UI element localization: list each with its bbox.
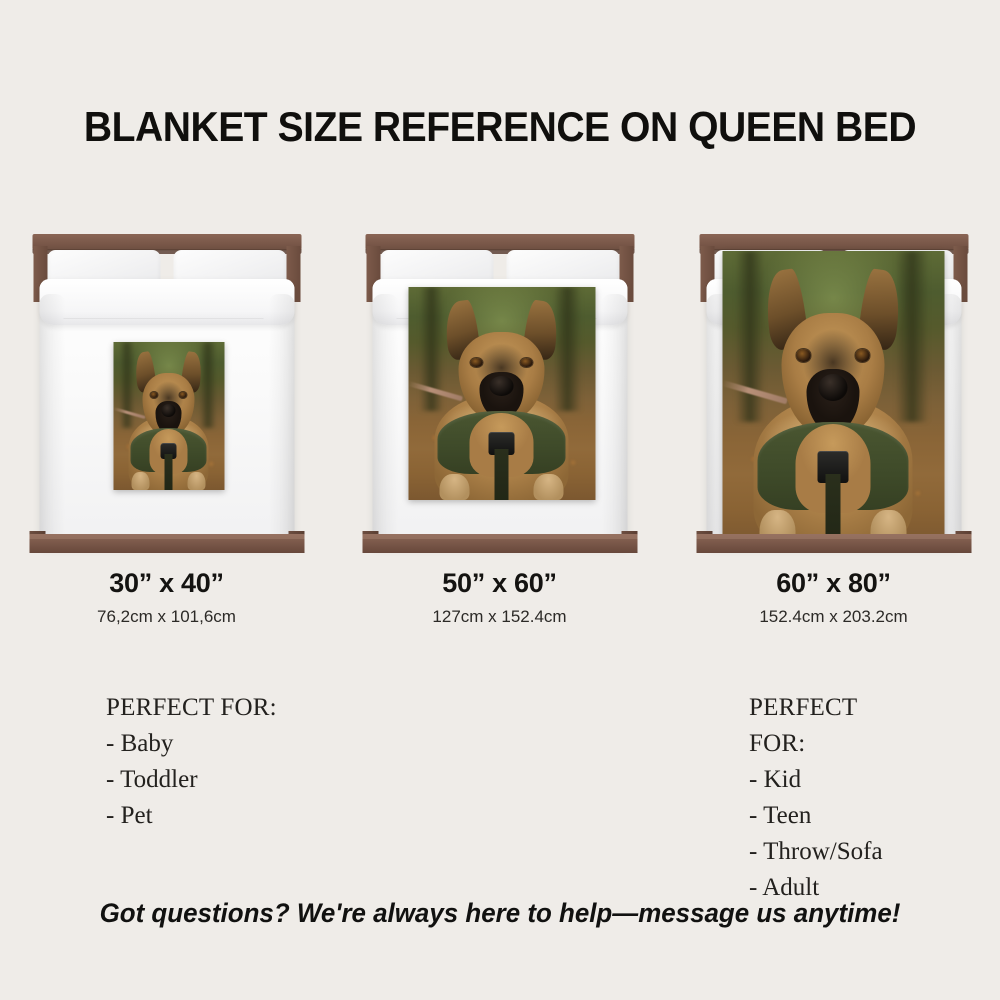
headboard-rail (699, 234, 968, 250)
size-inches-30x40: 30” x 40” (0, 568, 333, 599)
dog-paw-right (533, 474, 563, 500)
blanket-photo (408, 287, 595, 500)
dog-paw-left (440, 474, 470, 500)
perfect-for-item: - Baby (106, 726, 277, 762)
size-columns: 30” x 40” 76,2cm x 101,6cm PERFECT FOR: … (0, 0, 1000, 1000)
bed-illustration-30x40 (29, 234, 304, 556)
headboard-rail (32, 234, 301, 250)
perfect-for-item: - Toddler (106, 762, 277, 798)
dog-eye-right (855, 349, 869, 361)
headboard-rail (365, 234, 634, 250)
german-shepherd-dog (722, 251, 944, 545)
duvet-drape-left (372, 294, 398, 542)
dog-nose (489, 376, 513, 395)
harness-strap (495, 449, 508, 500)
dog-nose (819, 374, 848, 400)
footboard-rail (696, 534, 971, 553)
duvet-crease (63, 318, 263, 319)
dog-eye-left (796, 349, 810, 361)
harness-strap (165, 454, 173, 490)
blanket-photo (722, 251, 944, 545)
dog-paw-right (187, 472, 205, 490)
german-shepherd-dog (408, 287, 595, 500)
footboard-rail (362, 534, 637, 553)
size-centimeters-30x40: 76,2cm x 101,6cm (0, 607, 333, 627)
dog-eye-right (180, 392, 187, 398)
size-column-30x40: 30” x 40” 76,2cm x 101,6cm PERFECT FOR: … (0, 0, 333, 1000)
blanket-print-50x60 (408, 287, 595, 500)
duvet-drape-right (601, 294, 627, 542)
size-inches-50x60: 50” x 60” (333, 568, 666, 599)
duvet-drape-right (268, 294, 294, 542)
size-column-50x60: 50” x 60” 127cm x 152.4cm PERFECT FOR: -… (333, 0, 666, 1000)
blanket-print-60x80 (722, 251, 944, 545)
size-centimeters-50x60: 127cm x 152.4cm (333, 607, 666, 627)
size-inches-60x80: 60” x 80” (667, 568, 1000, 599)
german-shepherd-dog (113, 342, 224, 490)
perfect-for-block-30x40: PERFECT FOR: - Baby - Toddler - Pet (106, 690, 277, 834)
blanket-photo (113, 342, 224, 490)
perfect-for-heading: PERFECT FOR: (106, 690, 277, 726)
bed-illustration-50x60 (362, 234, 637, 556)
footer-tagline: Got questions? We're always here to help… (20, 898, 980, 929)
size-column-60x80: 60” x 80” 152.4cm x 203.2cm PERFECT FOR:… (667, 0, 1000, 1000)
size-centimeters-60x80: 152.4cm x 203.2cm (667, 607, 1000, 627)
perfect-for-item: - Pet (106, 798, 277, 834)
blanket-print-30x40 (113, 342, 224, 490)
dog-paw-left (132, 472, 150, 490)
duvet-drape-left (39, 294, 65, 542)
footboard-rail (29, 534, 304, 553)
bed-illustration-60x80 (696, 234, 971, 556)
size-reference-infographic: BLANKET SIZE REFERENCE ON QUEEN BED (0, 0, 1000, 1000)
